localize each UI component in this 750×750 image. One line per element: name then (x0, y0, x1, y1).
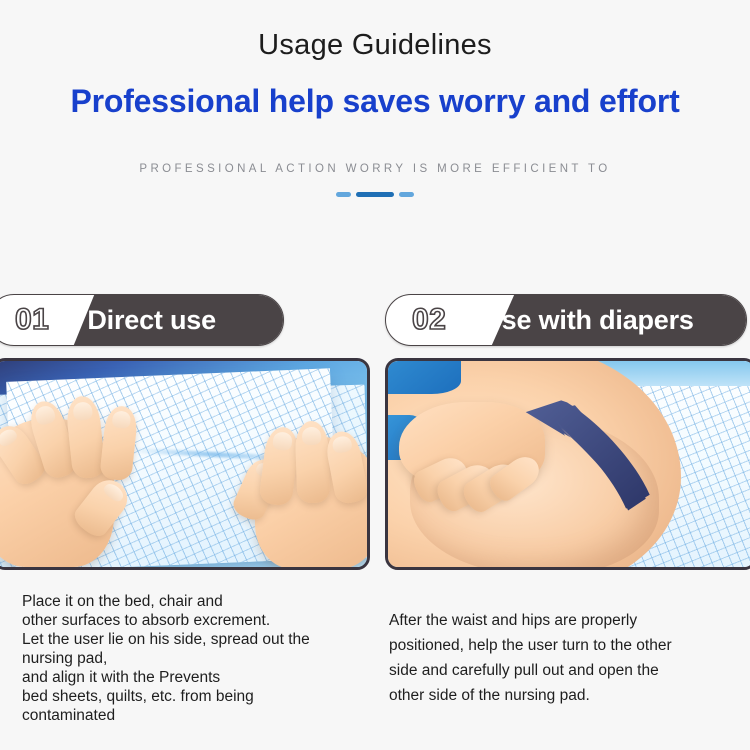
illustration-direct-use (0, 358, 370, 570)
caption-use-with-diapers: After the waist and hips are properly po… (389, 608, 739, 708)
dash-left (336, 192, 351, 197)
fingernail-icon (0, 426, 20, 448)
fingernail-icon (112, 411, 131, 429)
fingernail-icon (302, 426, 321, 445)
subtitle: PROFESSIONAL ACTION WORRY IS MORE EFFICI… (0, 163, 750, 175)
dash-right (399, 192, 414, 197)
fingernail-icon (73, 401, 94, 421)
step-badge-02[interactable]: 02 Use with diapers (385, 294, 747, 346)
fingernail-icon (331, 435, 352, 454)
fingernail-icon (272, 431, 293, 450)
caption-direct-use: Place it on the bed, chair and other sur… (22, 592, 374, 725)
step-label-02: Use with diapers (482, 305, 693, 336)
step-number-02: 02 (386, 303, 446, 337)
illustration-panels (0, 358, 750, 570)
divider-dashes (0, 192, 750, 197)
illustration-use-with-diapers (385, 358, 750, 570)
step-badges: 01 Direct use 02 Use with diapers (0, 294, 750, 346)
headline: Professional help saves worry and effort (0, 84, 750, 119)
step-number-01: 01 (0, 303, 49, 337)
page-title: Usage Guidelines (0, 30, 750, 62)
step-label-01: Direct use (87, 305, 216, 336)
fingernail-icon (34, 404, 57, 426)
dash-center (356, 192, 394, 197)
page-header: Usage Guidelines Professional help saves… (0, 0, 750, 197)
curved-arrow-icon (388, 361, 750, 570)
step-badge-01[interactable]: 01 Direct use (0, 294, 284, 346)
